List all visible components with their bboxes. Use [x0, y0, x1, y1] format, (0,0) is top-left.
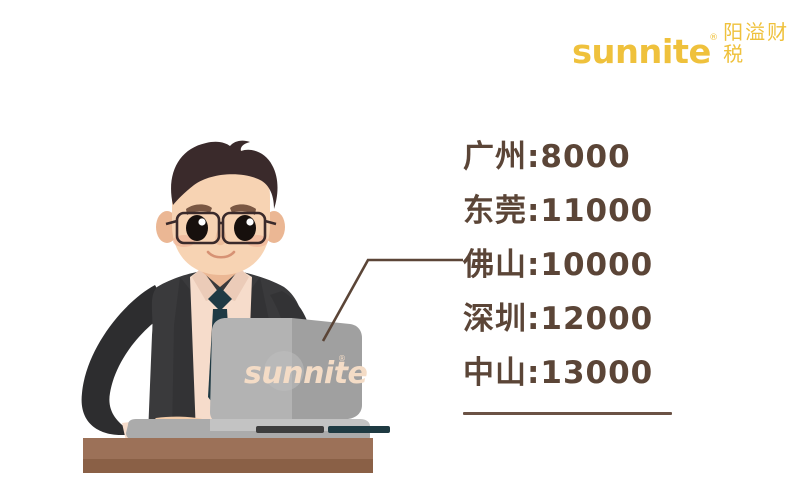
list-item: 佛山:10000 — [463, 244, 693, 298]
brand-chinese-name: 阳溢财税 — [723, 21, 800, 65]
left-eye-shape — [186, 215, 208, 241]
leader-polyline — [323, 260, 463, 341]
desk-front-edge — [83, 459, 373, 473]
laptop-keyboard-strip-dark — [256, 426, 324, 433]
right-eye-shape — [234, 215, 256, 241]
leader-pointer-line — [315, 248, 465, 343]
list-item: 中山:13000 — [463, 352, 693, 406]
laptop-left-base — [126, 419, 210, 440]
laptop-logo-text: sunnite — [244, 356, 368, 391]
list-item: 广州:8000 — [463, 136, 693, 190]
left-eye-highlight — [198, 218, 205, 225]
brand-logo: sunnite ® 阳溢财税 — [572, 33, 800, 67]
laptop-keyboard-strip-teal — [328, 426, 390, 433]
right-eye-highlight — [246, 218, 253, 225]
city-price-list: 广州:8000 东莞:11000 佛山:10000 深圳:12000 中山:13… — [463, 136, 693, 406]
desk-top-surface — [83, 438, 373, 461]
list-item: 东莞:11000 — [463, 190, 693, 244]
brand-wordmark-text: sunnite — [572, 37, 711, 67]
poster-canvas: sunnite ® 阳溢财税 — [0, 0, 800, 496]
list-item: 深圳:12000 — [463, 298, 693, 352]
laptop-logo-registered-icon: ® — [338, 354, 346, 363]
price-list-underline — [463, 412, 672, 415]
